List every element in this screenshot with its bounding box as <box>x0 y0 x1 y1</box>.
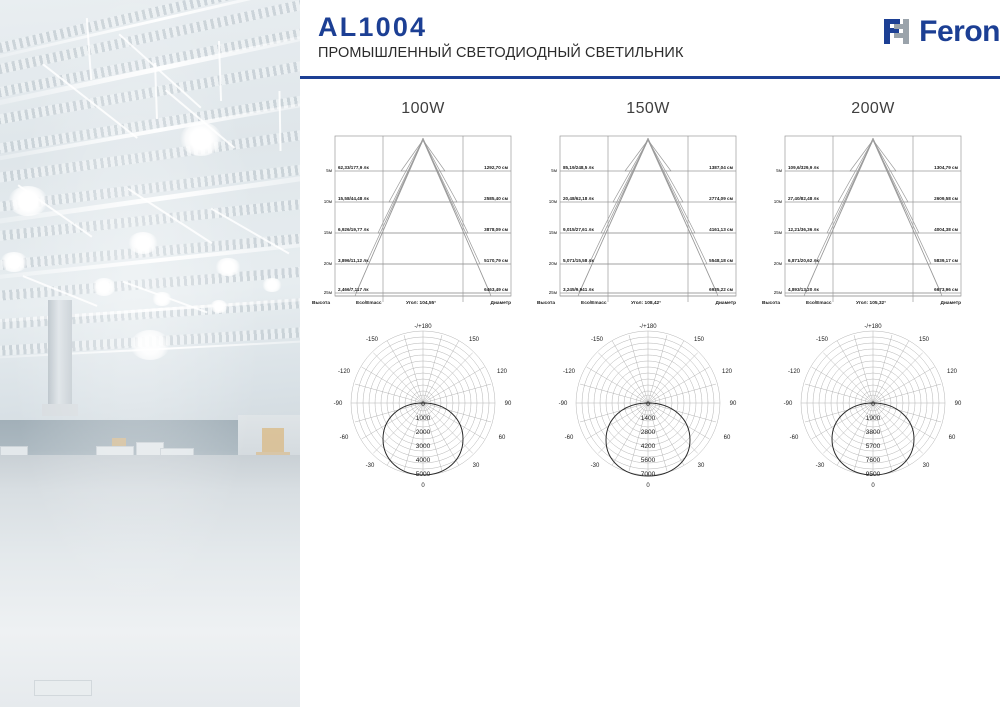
brand-name: Feron <box>919 17 1000 47</box>
beam-row-diameter: 6673,96 см <box>934 287 958 292</box>
polar-radial-tick: 7000 <box>641 471 656 478</box>
polar-radial-tick: 7600 <box>866 457 881 464</box>
beam-row-diameter: 6463,49 см <box>484 287 508 292</box>
polar-angle-tick: -90 <box>559 401 568 407</box>
polar-angle-tick: -/+180 <box>639 324 657 330</box>
beam-row-lux: 4,893/13,20 лк <box>788 287 819 292</box>
feron-mark-icon <box>881 16 912 47</box>
polar-radial-tick: 1000 <box>416 415 431 422</box>
beam-row-height: 20м <box>324 261 332 266</box>
polar-angle-tick: 60 <box>724 435 731 441</box>
polar-radial-tick: 1900 <box>866 415 881 422</box>
polar-radial-tick: 2000 <box>416 429 431 436</box>
polar-angle-tick: -30 <box>366 463 375 469</box>
beam-row-lux: 9,015/27,61 лк <box>563 227 594 232</box>
beam-row-lux: 85,19/248,5 лк <box>563 165 594 170</box>
beam-row-lux: 15,58/44,48 лк <box>338 196 369 201</box>
panel-title: 100W <box>308 100 538 118</box>
polar-angle-tick: 120 <box>722 369 733 375</box>
beam-row-diameter: 4004,38 см <box>934 227 958 232</box>
beam-row-diameter: 4161,13 см <box>709 227 733 232</box>
axis-label-height: Высота <box>537 300 555 306</box>
polar-angle-tick: 30 <box>473 463 480 469</box>
polar-angle-tick: -120 <box>788 369 801 375</box>
beam-angle-label: Угол: 105,32° <box>856 300 886 306</box>
polar-angle-tick: -150 <box>366 337 379 343</box>
beam-row-height: 20м <box>774 261 782 266</box>
beam-row-lux: 3,896/11,12 лк <box>338 258 369 263</box>
polar-angle-tick: 120 <box>497 369 508 375</box>
polar-angle-tick: 90 <box>505 401 512 407</box>
polar-angle-tick: -120 <box>338 369 351 375</box>
beam-row-height: 15м <box>549 230 557 235</box>
beam-row-height: 25м <box>549 290 557 295</box>
beam-row-diameter: 1387,04 см <box>709 165 733 170</box>
polar-angle-tick: 0 <box>421 483 425 489</box>
beam-row-diameter: 1304,79 см <box>934 165 958 170</box>
beam-row-lux: 2,466/7,117 лк <box>338 287 369 292</box>
polar-angle-tick: 60 <box>949 435 956 441</box>
product-datasheet-page: AL1004 ПРОМЫШЛЕННЫЙ СВЕТОДИОДНЫЙ СВЕТИЛЬ… <box>0 0 1000 707</box>
beam-row-diameter: 5170,79 см <box>484 258 508 263</box>
polar-angle-tick: 150 <box>469 337 480 343</box>
axis-label-height: Высота <box>312 300 330 306</box>
beam-row-height: 10м <box>774 199 782 204</box>
axis-label-lux: Есо/Еmacc <box>581 300 607 306</box>
polar-angle-tick: 150 <box>919 337 930 343</box>
polar-angle-tick: -30 <box>816 463 825 469</box>
polar-angle-tick: -30 <box>591 463 600 469</box>
polar-angle-tick: 0 <box>646 483 650 489</box>
polar-radial-tick: 5000 <box>416 471 431 478</box>
header-divider <box>300 76 1000 79</box>
beam-row-lux: 27,40/82,48 лк <box>788 196 819 201</box>
axis-label-diameter: Диаметр <box>941 300 962 306</box>
polar-radial-tick: 2800 <box>641 429 656 436</box>
beam-row-diameter: 5839,17 см <box>934 258 958 263</box>
beam-spread-diagram: 5м 10м 15м 20м 25м 109,6/329,9 лк 27,40/… <box>758 130 988 310</box>
polar-angle-tick: -60 <box>790 435 799 441</box>
beam-row-height: 25м <box>774 290 782 295</box>
polar-radial-tick: 4000 <box>416 457 431 464</box>
polar-angle-tick: 150 <box>694 337 705 343</box>
beam-row-lux: 109,6/329,9 лк <box>788 165 819 170</box>
polar-angle-tick: -120 <box>563 369 576 375</box>
beam-row-lux: 62,33/177,9 лк <box>338 165 369 170</box>
polar-angle-tick: -60 <box>340 435 349 441</box>
beam-row-diameter: 1292,70 см <box>484 165 508 170</box>
polar-radial-tick: 4200 <box>641 443 656 450</box>
polar-angle-tick: 90 <box>955 401 962 407</box>
brand-logo: Feron <box>881 16 1000 47</box>
polar-radial-tick: 3000 <box>416 443 431 450</box>
panel-150w: 150W <box>533 100 763 500</box>
polar-angle-tick: -150 <box>591 337 604 343</box>
polar-radial-tick: 9500 <box>866 471 881 478</box>
beam-angle-label: Угол: 108,42° <box>631 300 661 306</box>
axis-label-diameter: Диаметр <box>491 300 512 306</box>
beam-row-lux: 6,926/19,77 лк <box>338 227 369 232</box>
polar-angle-tick: 120 <box>947 369 958 375</box>
polar-angle-tick: -90 <box>784 401 793 407</box>
polar-angle-tick: 30 <box>923 463 930 469</box>
beam-row-height: 10м <box>549 199 557 204</box>
polar-radial-tick: 1400 <box>641 415 656 422</box>
beam-row-height: 5м <box>326 168 332 173</box>
beam-row-lux: 3,245/9,941 лк <box>563 287 594 292</box>
beam-row-diameter: 2585,40 см <box>484 196 508 201</box>
axis-label-diameter: Диаметр <box>716 300 737 306</box>
polar-angle-tick: -150 <box>816 337 829 343</box>
polar-intensity-chart: -/+180 150 120 90 60 30 0 -30 -60 -90 -1… <box>533 315 763 490</box>
beam-row-height: 5м <box>776 168 782 173</box>
axis-label-lux: Есо/Еmacc <box>356 300 382 306</box>
panel-title: 200W <box>758 100 988 118</box>
polar-intensity-chart: -/+180 150 120 90 60 30 0 -30 -60 -90 -1… <box>308 315 538 490</box>
polar-radial-tick: 5600 <box>641 457 656 464</box>
polar-angle-tick: -60 <box>565 435 574 441</box>
polar-angle-tick: 60 <box>499 435 506 441</box>
polar-center-zero: 0 <box>421 401 425 408</box>
beam-angle-label: Угол: 104,55° <box>406 300 436 306</box>
polar-angle-tick: -90 <box>334 401 343 407</box>
beam-row-diameter: 2609,58 см <box>934 196 958 201</box>
beam-row-height: 15м <box>774 230 782 235</box>
beam-row-diameter: 5548,18 см <box>709 258 733 263</box>
beam-spread-diagram: 5м 10м 15м 20м 25м 85,19/248,5 лк 20,48/… <box>533 130 763 310</box>
panel-200w: 200W <box>758 100 988 500</box>
axis-label-lux: Есо/Еmacc <box>806 300 832 306</box>
beam-spread-diagram: 5м 10м 15м 20м 25м 62,33/177,9 лк 15,58/… <box>308 130 538 310</box>
polar-angle-tick: 30 <box>698 463 705 469</box>
polar-radial-tick: 3800 <box>866 429 881 436</box>
polar-center-zero: 0 <box>646 401 650 408</box>
beam-row-lux: 12,21/36,36 лк <box>788 227 819 232</box>
beam-row-height: 15м <box>324 230 332 235</box>
beam-row-diameter: 6935,22 см <box>709 287 733 292</box>
polar-angle-tick: 90 <box>730 401 737 407</box>
photo-light-glow <box>0 0 300 707</box>
polar-center-zero: 0 <box>871 401 875 408</box>
warehouse-photo <box>0 0 300 707</box>
beam-row-diameter: 2774,09 см <box>709 196 733 201</box>
polar-angle-tick: -/+180 <box>414 324 432 330</box>
axis-label-height: Высота <box>762 300 780 306</box>
polar-angle-tick: 0 <box>871 483 875 489</box>
beam-row-height: 5м <box>551 168 557 173</box>
polar-radial-tick: 5700 <box>866 443 881 450</box>
beam-row-lux: 5,071/15,58 лк <box>563 258 594 263</box>
beam-row-diameter: 3878,09 см <box>484 227 508 232</box>
panel-title: 150W <box>533 100 763 118</box>
beam-row-lux: 6,871/20,62 лк <box>788 258 819 263</box>
polar-angle-tick: -/+180 <box>864 324 882 330</box>
datasheet-content: AL1004 ПРОМЫШЛЕННЫЙ СВЕТОДИОДНЫЙ СВЕТИЛЬ… <box>300 0 1000 707</box>
beam-row-height: 10м <box>324 199 332 204</box>
beam-row-height: 25м <box>324 290 332 295</box>
beam-row-lux: 20,48/62,18 лк <box>563 196 594 201</box>
polar-intensity-chart: -/+180 150 120 90 60 30 0 -30 -60 -90 -1… <box>758 315 988 490</box>
photometry-panels: 100W <box>300 100 1000 500</box>
beam-row-height: 20м <box>549 261 557 266</box>
page-subtitle: ПРОМЫШЛЕННЫЙ СВЕТОДИОДНЫЙ СВЕТИЛЬНИК <box>318 45 1000 61</box>
page-header: AL1004 ПРОМЫШЛЕННЫЙ СВЕТОДИОДНЫЙ СВЕТИЛЬ… <box>318 14 1000 72</box>
panel-100w: 100W <box>308 100 538 500</box>
